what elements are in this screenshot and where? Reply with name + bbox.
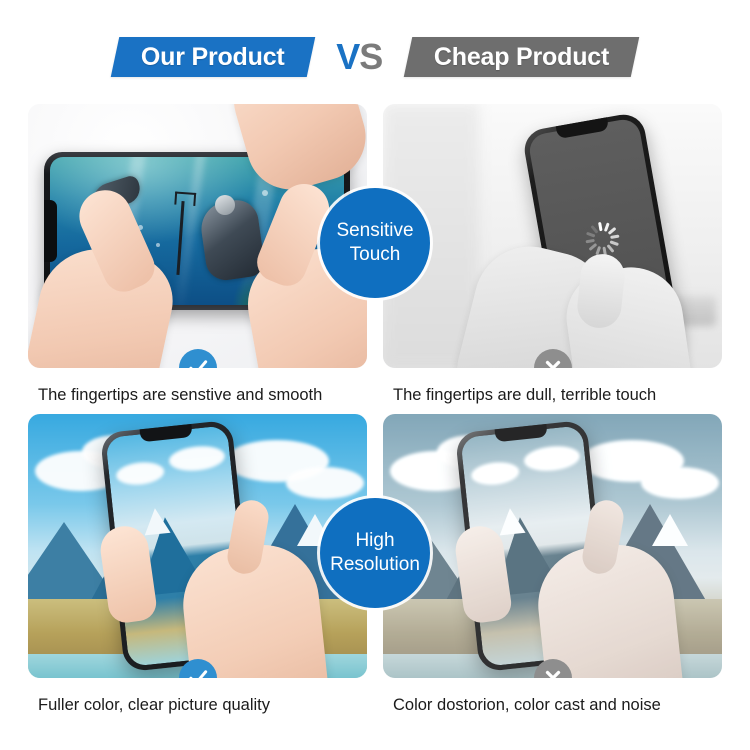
phone-notch xyxy=(44,200,57,262)
panel-our-product-resolution[interactable] xyxy=(28,414,367,678)
check-icon xyxy=(187,667,209,678)
feature-badge-line1: High xyxy=(355,529,394,553)
vs-label: VS xyxy=(336,39,382,75)
comparison-row-high-resolution: High Resolution Fuller color, clear pict… xyxy=(28,414,722,724)
our-product-banner: Our Product xyxy=(110,37,314,77)
our-product-label: Our Product xyxy=(141,45,285,70)
feature-badge-line1: Sensitive xyxy=(336,219,413,243)
game-diver-head xyxy=(215,195,235,215)
cheap-product-banner: Cheap Product xyxy=(404,37,640,77)
cheap-product-label: Cheap Product xyxy=(434,45,609,70)
caption-cheap-product-resolution: Color dostorion, color cast and noise xyxy=(383,686,722,724)
header: Our Product VS Cheap Product xyxy=(0,26,750,88)
cross-icon xyxy=(542,667,564,678)
panel-our-product-touch[interactable] xyxy=(28,104,367,368)
comparison-infographic: Our Product VS Cheap Product xyxy=(0,0,750,750)
row-captions: Fuller color, clear picture quality Colo… xyxy=(28,686,722,724)
scene-mountain-vivid xyxy=(28,414,367,678)
row-captions: The fingertips are senstive and smooth T… xyxy=(28,376,722,414)
feature-badge-line2: Touch xyxy=(350,243,401,267)
scene-loading-phone xyxy=(383,104,722,368)
vs-letter-s: S xyxy=(359,36,382,77)
feature-badge-high-resolution: High Resolution xyxy=(320,498,430,608)
feature-badge-sensitive-touch: Sensitive Touch xyxy=(320,188,430,298)
scene-mountain-faded xyxy=(383,414,722,678)
vs-letter-v: V xyxy=(336,36,359,77)
panel-cheap-product-touch[interactable] xyxy=(383,104,722,368)
panel-cheap-product-resolution[interactable] xyxy=(383,414,722,678)
check-icon xyxy=(187,357,209,368)
loading-spinner-icon xyxy=(582,219,621,258)
caption-our-product-touch: The fingertips are senstive and smooth xyxy=(28,376,367,414)
cross-icon xyxy=(542,357,564,368)
comparison-grid: Sensitive Touch The fingertips are senst… xyxy=(28,104,722,724)
caption-cheap-product-touch: The fingertips are dull, terrible touch xyxy=(383,376,722,414)
feature-badge-line2: Resolution xyxy=(330,553,420,577)
caption-our-product-resolution: Fuller color, clear picture quality xyxy=(28,686,367,724)
comparison-row-sensitive-touch: Sensitive Touch The fingertips are senst… xyxy=(28,104,722,414)
scene-gaming-phone xyxy=(28,104,367,368)
